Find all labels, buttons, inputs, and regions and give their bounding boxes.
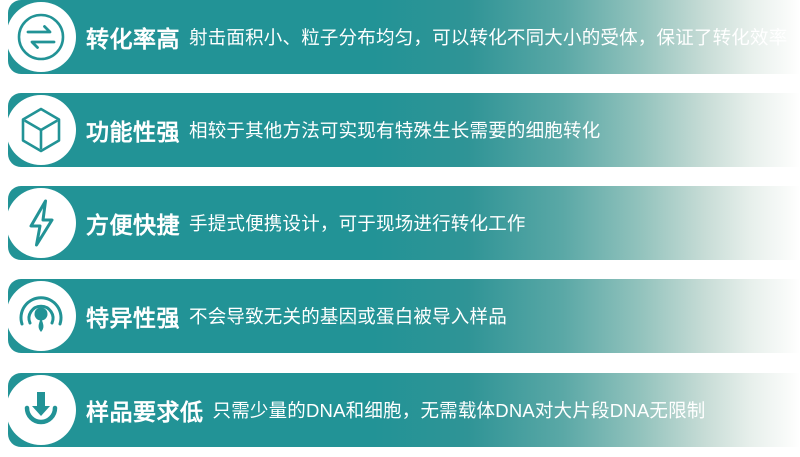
feature-description: 射击面积小、粒子分布均匀，可以转化不同大小的受体，保证了转化效率 — [189, 24, 787, 50]
feature-text: 转化率高 射击面积小、粒子分布均匀，可以转化不同大小的受体，保证了转化效率 — [86, 0, 787, 74]
feature-description: 相较于其他方法可实现有特殊生长需要的细胞转化 — [189, 117, 600, 143]
feature-text: 功能性强 相较于其他方法可实现有特殊生长需要的细胞转化 — [86, 93, 600, 167]
feature-list: 转化率高 射击面积小、粒子分布均匀，可以转化不同大小的受体，保证了转化效率 功能… — [0, 0, 800, 457]
feature-row: 样品要求低 只需少量的DNA和细胞，无需载体DNA对大片段DNA无限制 — [0, 373, 800, 447]
feature-title: 方便快捷 — [86, 206, 180, 240]
lightning-bolt-icon — [6, 188, 76, 258]
feature-title: 特异性强 — [86, 299, 180, 333]
feature-description: 不会导致无关的基因或蛋白被导入样品 — [189, 303, 507, 329]
feature-description: 只需少量的DNA和细胞，无需载体DNA对大片段DNA无限制 — [213, 397, 706, 423]
feature-title: 转化率高 — [86, 20, 180, 54]
feature-row: 方便快捷 手提式便携设计，可于现场进行转化工作 — [0, 186, 800, 260]
feature-text: 样品要求低 只需少量的DNA和细胞，无需载体DNA对大片段DNA无限制 — [86, 373, 705, 447]
hexagon-cube-icon — [6, 95, 76, 165]
exchange-arrows-icon — [6, 2, 76, 72]
target-droplet-icon — [6, 281, 76, 351]
feature-text: 方便快捷 手提式便携设计，可于现场进行转化工作 — [86, 186, 526, 260]
feature-row: 特异性强 不会导致无关的基因或蛋白被导入样品 — [0, 279, 800, 353]
feature-text: 特异性强 不会导致无关的基因或蛋白被导入样品 — [86, 279, 507, 353]
feature-row: 转化率高 射击面积小、粒子分布均匀，可以转化不同大小的受体，保证了转化效率 — [0, 0, 800, 74]
feature-row: 功能性强 相较于其他方法可实现有特殊生长需要的细胞转化 — [0, 93, 800, 167]
feature-title: 样品要求低 — [86, 393, 204, 427]
feature-title: 功能性强 — [86, 113, 180, 147]
download-tray-icon — [6, 375, 76, 445]
feature-description: 手提式便携设计，可于现场进行转化工作 — [189, 210, 526, 236]
